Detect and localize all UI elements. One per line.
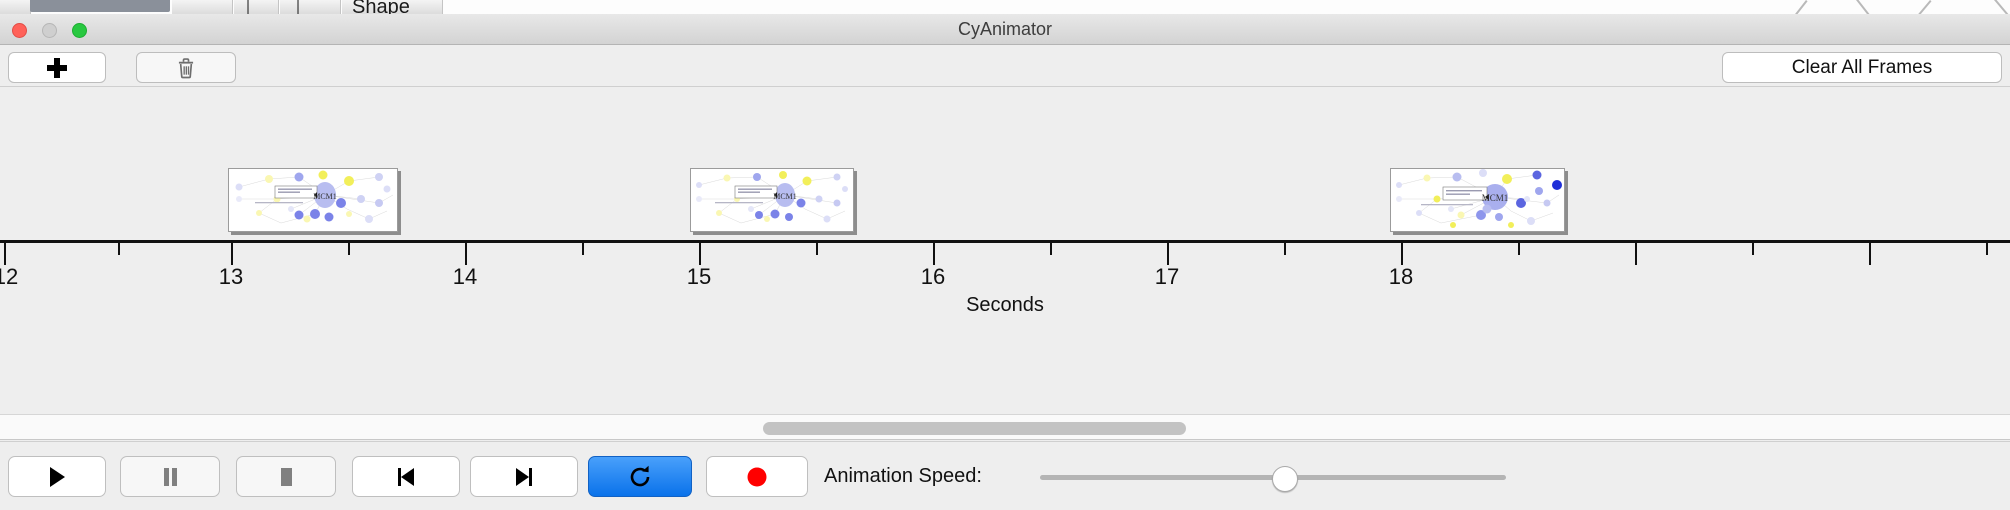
axis-tick — [1752, 243, 1754, 255]
svg-text:MCM1: MCM1 — [1482, 193, 1509, 203]
network-thumbnail-graphic: MCM1 — [1391, 169, 1564, 231]
axis-tick-label: 14 — [453, 264, 477, 290]
axis-tick — [1986, 243, 1988, 255]
axis-tick — [816, 243, 818, 255]
axis-tick — [1401, 243, 1403, 265]
axis-tick-label: 16 — [921, 264, 945, 290]
timeline-frame-thumbnail[interactable]: MCM1 — [690, 168, 854, 232]
stop-icon — [275, 465, 297, 489]
bg-network-edge — [1794, 0, 1808, 14]
playback-control-bar: Animation Speed: — [0, 441, 2010, 510]
window-titlebar: CyAnimator — [0, 14, 2010, 45]
bg-block — [234, 0, 279, 14]
play-button[interactable] — [8, 456, 106, 497]
bg-active-tab — [30, 0, 170, 12]
frame-toolbar: Clear All Frames — [0, 45, 2010, 87]
network-thumbnail-graphic: MCM1 — [229, 169, 397, 231]
axis-tick — [118, 243, 120, 255]
clear-all-frames-label: Clear All Frames — [1792, 57, 1932, 79]
scrollbar-thumb[interactable] — [763, 422, 1186, 435]
svg-text:MCM1: MCM1 — [313, 192, 337, 201]
window-title: CyAnimator — [0, 14, 2010, 45]
bg-block — [0, 0, 31, 14]
bg-block — [172, 0, 233, 14]
add-frame-button[interactable] — [8, 52, 106, 83]
axis-tick — [231, 243, 233, 265]
bg-block — [280, 0, 341, 14]
bg-glyph-bar: | — [296, 0, 300, 14]
axis-tick — [1050, 243, 1052, 255]
axis-tick — [699, 243, 701, 265]
loop-button[interactable] — [588, 456, 692, 497]
axis-tick-label: 13 — [219, 264, 243, 290]
svg-text:MCM1: MCM1 — [773, 192, 797, 201]
previous-frame-button[interactable] — [352, 456, 460, 497]
axis-tick-label: 12 — [0, 264, 18, 290]
delete-frame-button[interactable] — [136, 52, 236, 83]
clear-all-frames-button[interactable]: Clear All Frames — [1722, 52, 2002, 83]
axis-tick-label: 15 — [687, 264, 711, 290]
cyanimator-window: | | Shape CyAnimator Cle — [0, 0, 2010, 510]
bg-glyph-bar: | — [246, 0, 250, 14]
axis-tick — [1284, 243, 1286, 255]
bg-partial-label: Shape — [352, 0, 410, 14]
axis-tick — [348, 243, 350, 255]
loop-icon — [627, 464, 653, 490]
animation-speed-slider-thumb[interactable] — [1272, 466, 1298, 492]
timeline-panel[interactable]: MCM1 — [0, 88, 2010, 414]
axis-tick — [1167, 243, 1169, 265]
bg-network-edge — [1917, 0, 1931, 14]
axis-tick — [1635, 243, 1637, 265]
timeline-horizontal-scrollbar[interactable] — [0, 414, 2010, 440]
network-thumbnail-graphic: MCM1 — [691, 169, 853, 231]
record-button[interactable] — [706, 456, 808, 497]
axis-tick-label: 17 — [1155, 264, 1179, 290]
axis-tick — [465, 243, 467, 265]
bg-network-edge — [1994, 0, 2008, 14]
axis-title: Seconds — [0, 294, 2010, 317]
axis-tick-label: 18 — [1389, 264, 1413, 290]
timeline-frame-thumbnail[interactable]: MCM1 — [228, 168, 398, 232]
axis-tick — [4, 243, 6, 265]
skip-back-icon — [393, 465, 419, 489]
play-icon — [46, 465, 68, 489]
timeline-axis-line — [0, 240, 2010, 243]
skip-forward-icon — [511, 465, 537, 489]
pause-icon — [159, 465, 181, 489]
bg-network-edge — [1856, 0, 1870, 14]
next-frame-button[interactable] — [470, 456, 578, 497]
stop-button[interactable] — [236, 456, 336, 497]
axis-tick — [1518, 243, 1520, 255]
plus-icon — [47, 58, 67, 78]
trash-icon — [176, 57, 196, 79]
background-app-strip: | | Shape — [0, 0, 2010, 14]
axis-tick — [1869, 243, 1871, 265]
axis-tick — [582, 243, 584, 255]
pause-button[interactable] — [120, 456, 220, 497]
axis-tick — [933, 243, 935, 265]
animation-speed-label: Animation Speed: — [824, 456, 982, 497]
record-icon — [745, 465, 769, 489]
timeline-frame-thumbnail[interactable]: MCM1 — [1390, 168, 1565, 232]
